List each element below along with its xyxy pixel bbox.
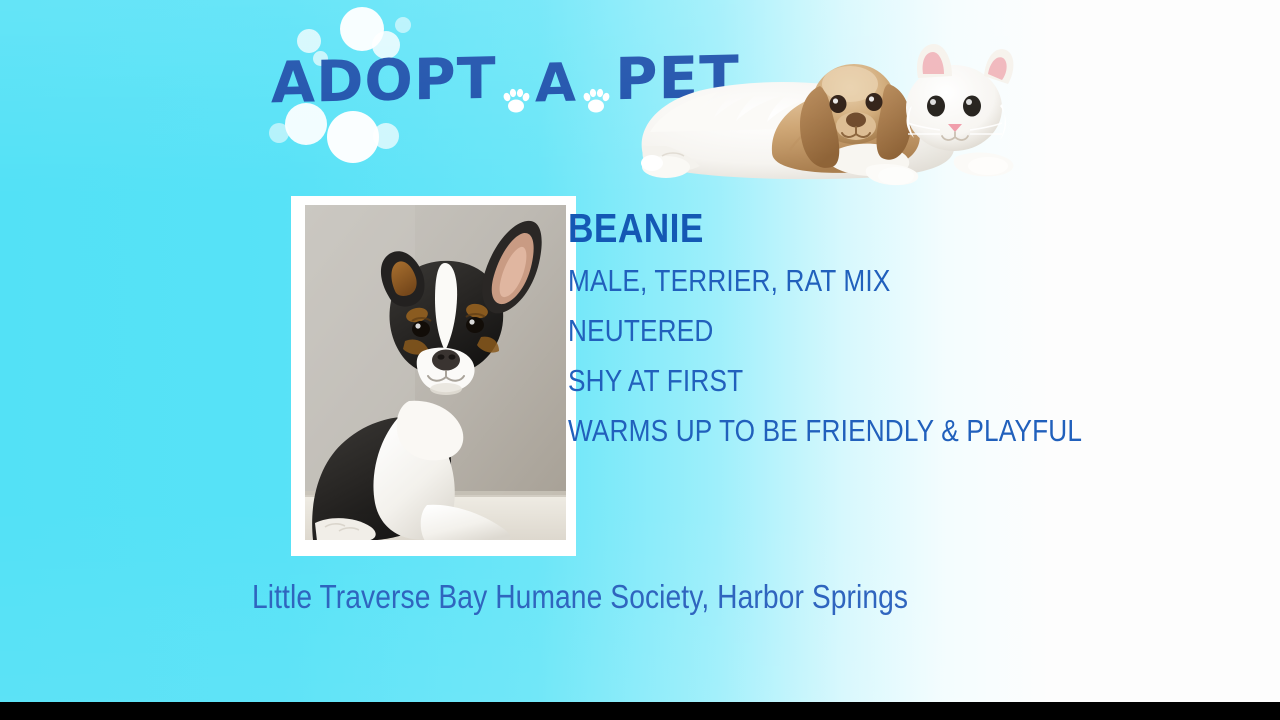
- pet-photo-card: [291, 196, 576, 556]
- bubble-circle-icon: [395, 17, 411, 33]
- page-title: ADOPT A: [271, 41, 671, 121]
- slide-header: ADOPT A: [255, 5, 675, 165]
- shelter-caption: Little Traverse Bay Humane Society, Harb…: [252, 578, 908, 616]
- pet-name: BEANIE: [568, 208, 1015, 250]
- pet-attribute-breed: MALE, TERRIER, RAT MIX: [568, 256, 1007, 306]
- pet-attribute-shy: SHY AT FIRST: [568, 356, 1007, 406]
- paw-print-icon: [501, 72, 531, 106]
- title-word-adopt: ADOPT: [271, 50, 497, 112]
- bubble-circle-icon: [373, 123, 399, 149]
- slide-stage: ADOPT A: [0, 0, 1280, 702]
- bubble-circle-icon: [269, 123, 289, 143]
- puppy-and-kitten-photo: [622, 0, 1032, 190]
- title-word-a: A: [535, 56, 577, 110]
- broadcast-screen: ADOPT A: [0, 0, 1280, 720]
- letterbox-bar-bottom: [0, 702, 1280, 720]
- pet-attribute-friendly: WARMS UP TO BE FRIENDLY & PLAYFUL: [568, 406, 1007, 456]
- pet-photo: [305, 205, 566, 540]
- pet-attribute-neutered: NEUTERED: [568, 306, 1007, 356]
- pet-info-block: BEANIE MALE, TERRIER, RAT MIX NEUTERED S…: [568, 208, 1088, 457]
- paw-print-icon: [581, 72, 611, 106]
